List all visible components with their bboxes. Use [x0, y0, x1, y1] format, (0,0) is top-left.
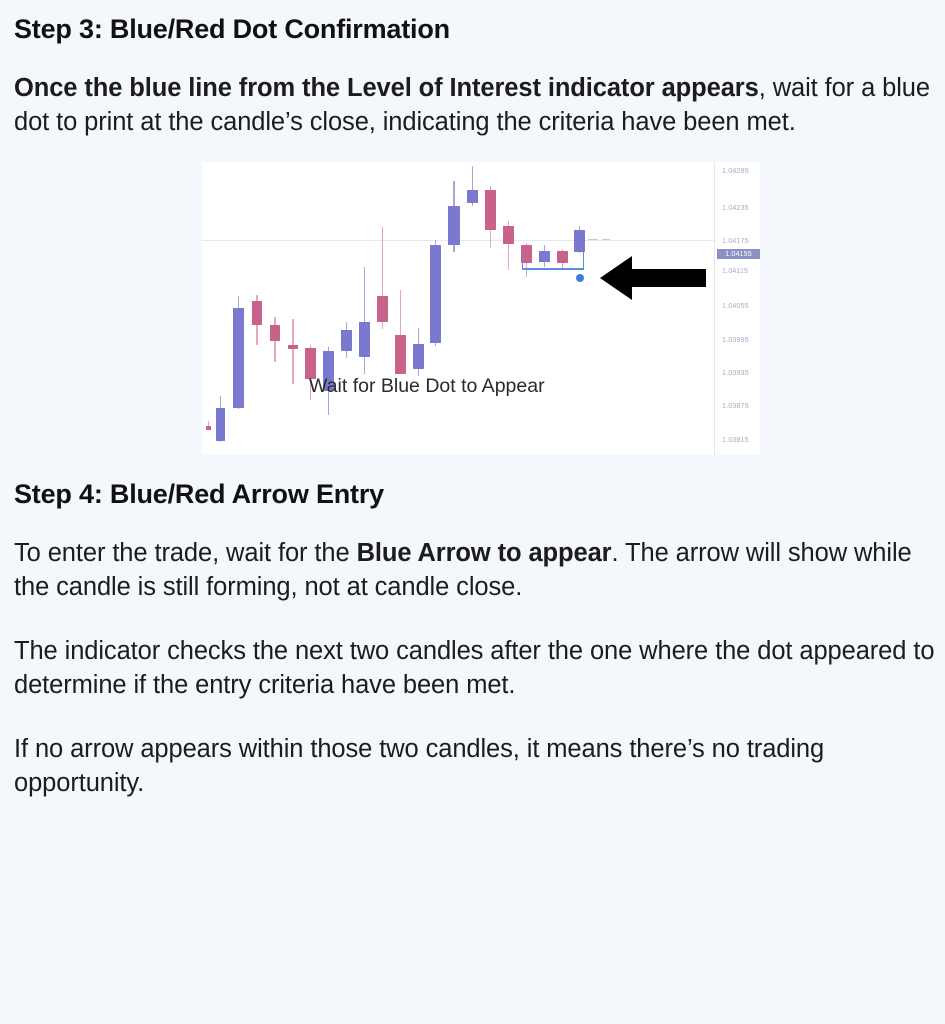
entry-text-emphasis: Blue Arrow to appear — [357, 539, 612, 567]
candle-9 — [341, 162, 352, 455]
axis-tick-2: 1.04175 — [722, 236, 749, 245]
axis-tick-7: 1.03875 — [722, 401, 749, 410]
axis-tick-5: 1.03995 — [722, 335, 749, 344]
candle-17 — [485, 162, 496, 455]
axis-tick-4: 1.04055 — [722, 301, 749, 310]
candle-19 — [521, 162, 532, 455]
chart-plot-area: Wait for Blue Dot to Appear — [202, 162, 714, 455]
axis-tick-1: 1.04235 — [722, 203, 749, 212]
candle-4 — [252, 162, 262, 455]
candlestick-chart-figure: Wait for Blue Dot to Appear 1.04295 1.04… — [202, 162, 760, 455]
chart-caption: Wait for Blue Dot to Appear — [309, 375, 545, 398]
candle-13 — [413, 162, 424, 455]
article-page: Step 3: Blue/Red Dot Confirmation Once t… — [0, 0, 945, 1024]
chart-axis-divider — [714, 162, 715, 455]
candle-22 — [574, 162, 585, 455]
current-price-label: 1.04155 — [717, 249, 760, 259]
candle-8 — [323, 162, 334, 455]
candle-21 — [557, 162, 568, 455]
axis-tick-6: 1.03935 — [722, 368, 749, 377]
price-axis: 1.04295 1.04235 1.04175 1.04155 1.04115 … — [716, 162, 760, 455]
candle-1 — [206, 162, 211, 455]
step3-intro-emphasis: Once the blue line from the Level of Int… — [14, 74, 759, 102]
axis-tick-8: 1.03815 — [722, 435, 749, 444]
arrow-pointer-icon — [600, 254, 708, 302]
candle-5 — [270, 162, 280, 455]
candle-11 — [377, 162, 388, 455]
step3-heading: Step 3: Blue/Red Dot Confirmation — [14, 14, 931, 44]
step4-checks-paragraph: The indicator checks the next two candle… — [14, 635, 945, 703]
entry-text-pre: To enter the trade, wait for the — [14, 539, 357, 567]
step4-no-arrow-paragraph: If no arrow appears within those two can… — [14, 733, 945, 801]
step4-entry-paragraph: To enter the trade, wait for the Blue Ar… — [14, 537, 939, 605]
level-of-interest-top-segment — [522, 268, 584, 270]
candle-14 — [430, 162, 441, 455]
axis-tick-3: 1.04115 — [722, 266, 748, 275]
axis-tick-0: 1.04295 — [722, 166, 749, 175]
price-level-dash — [588, 239, 598, 240]
candle-12 — [395, 162, 406, 455]
step4-heading: Step 4: Blue/Red Arrow Entry — [14, 479, 931, 509]
candle-3 — [233, 162, 244, 455]
candle-10 — [359, 162, 370, 455]
candle-16 — [467, 162, 478, 455]
candle-6 — [288, 162, 298, 455]
step3-intro-paragraph: Once the blue line from the Level of Int… — [14, 72, 932, 140]
price-level-dash-2 — [602, 239, 610, 240]
candle-20 — [539, 162, 550, 455]
candle-2 — [216, 162, 225, 455]
candle-7 — [305, 162, 316, 455]
level-of-interest-line — [522, 252, 584, 269]
candle-15 — [448, 162, 460, 455]
blue-dot-marker — [576, 274, 584, 282]
candle-18 — [503, 162, 514, 455]
